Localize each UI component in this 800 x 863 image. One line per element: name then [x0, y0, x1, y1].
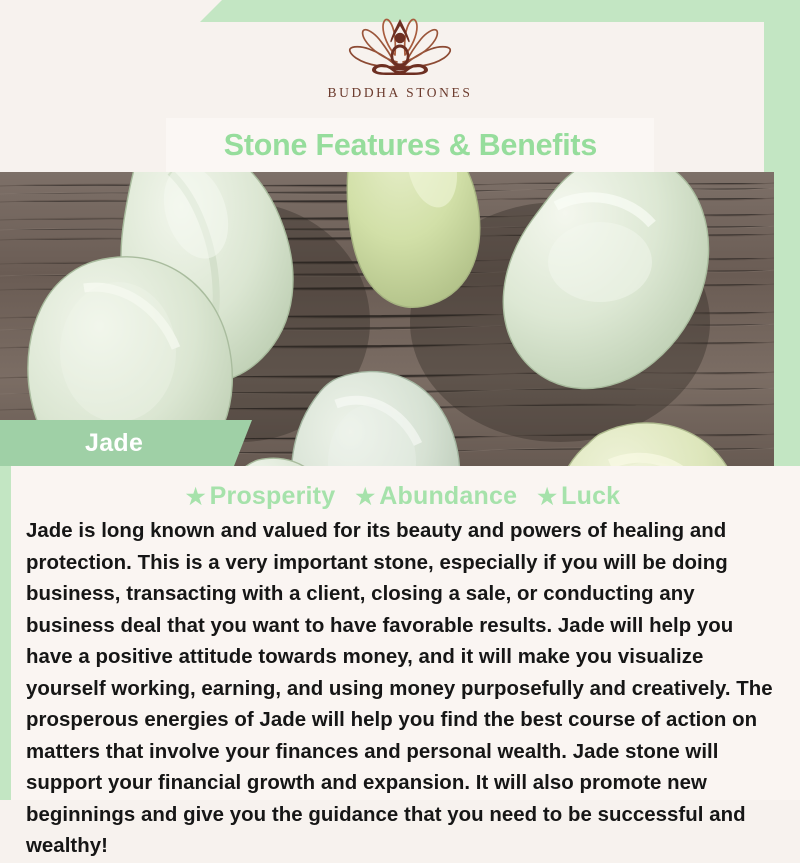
page-title: Stone Features & Benefits: [223, 127, 596, 163]
traits-row: ★Prosperity★Abundance★Luck: [20, 482, 786, 511]
trait-luck: Luck: [561, 482, 620, 510]
stone-description: Jade is long known and valued for its be…: [20, 516, 786, 863]
star-icon-3: ★: [537, 484, 557, 509]
trait-abundance: Abundance: [379, 482, 517, 510]
decor-green-left-body-strip: [0, 455, 11, 800]
page-title-panel: Stone Features & Benefits: [166, 118, 654, 172]
content-panel: ★Prosperity★Abundance★Luck Jade is long …: [11, 466, 800, 800]
star-icon-2: ★: [355, 484, 375, 509]
trait-prosperity: Prosperity: [210, 482, 336, 510]
stone-name: Jade: [85, 429, 143, 458]
brand-name: BUDDHA STONES: [328, 85, 473, 101]
brand-header: BUDDHA STONES: [0, 0, 800, 118]
lotus-meditation-icon: [339, 14, 461, 80]
star-icon-1: ★: [186, 484, 206, 509]
stone-name-banner: Jade: [0, 420, 252, 466]
